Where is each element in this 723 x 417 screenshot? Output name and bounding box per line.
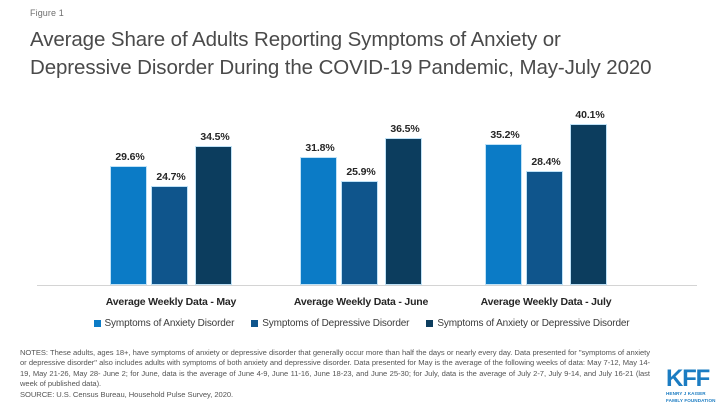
kff-logo-subtitle-line2: FAMILY FOUNDATION — [666, 398, 718, 404]
bar-value-july-depressive: 28.4% — [516, 156, 576, 168]
legend-item-anxiety[interactable]: Symptoms of Anxiety Disorder — [94, 318, 235, 329]
category-label-july: Average Weekly Data - July — [431, 296, 661, 308]
bar-june-anxiety-or-depressive[interactable]: 36.5% — [385, 138, 422, 285]
bar-value-june-depressive: 25.9% — [331, 166, 391, 178]
bar-may-depressive[interactable]: 24.7% — [151, 186, 188, 285]
legend-item-depressive[interactable]: Symptoms of Depressive Disorder — [251, 318, 409, 329]
page-title: Average Share of Adults Reporting Sympto… — [30, 26, 710, 82]
legend-item-anxiety-or-depressive[interactable]: Symptoms of Anxiety or Depressive Disord… — [426, 318, 629, 329]
bar-july-anxiety-or-depressive[interactable]: 40.1% — [570, 124, 607, 285]
legend-swatch-icon-anxiety — [94, 320, 101, 327]
figure-label: Figure 1 — [30, 8, 64, 18]
bar-value-june-anxiety-or-depressive: 36.5% — [375, 123, 435, 135]
chart-slide: Figure 1 Average Share of Adults Reporti… — [0, 0, 723, 417]
bar-value-may-anxiety-or-depressive: 34.5% — [185, 131, 245, 143]
bar-value-may-depressive: 24.7% — [141, 171, 201, 183]
bar-may-anxiety[interactable]: 29.6% — [110, 166, 147, 285]
bar-value-may-anxiety: 29.6% — [100, 151, 160, 163]
legend-label-depressive: Symptoms of Depressive Disorder — [262, 318, 409, 329]
footer-source: SOURCE: U.S. Census Bureau, Household Pu… — [20, 390, 650, 400]
legend-swatch-icon-depressive — [251, 320, 258, 327]
legend-label-anxiety-or-depressive: Symptoms of Anxiety or Depressive Disord… — [437, 318, 629, 329]
bar-value-july-anxiety-or-depressive: 40.1% — [560, 109, 620, 121]
bar-chart-plot: 29.6% 24.7% 34.5% Average Weekly Data - … — [20, 104, 710, 286]
kff-logo: KFF HENRY J KAISER FAMILY FOUNDATION — [666, 367, 718, 403]
bar-may-anxiety-or-depressive[interactable]: 34.5% — [195, 146, 232, 285]
footer-notes: NOTES: These adults, ages 18+, have symp… — [20, 348, 650, 390]
chart-legend: Symptoms of Anxiety Disorder Symptoms of… — [0, 318, 723, 329]
legend-swatch-icon-anxiety-or-depressive — [426, 320, 433, 327]
title-line-1: Average Share of Adults Reporting Sympto… — [30, 26, 710, 54]
bar-value-june-anxiety: 31.8% — [290, 142, 350, 154]
kff-logo-subtitle-line1: HENRY J KAISER — [666, 391, 718, 397]
title-line-2: Depressive Disorder During the COVID-19 … — [30, 54, 710, 82]
kff-logo-wordmark: KFF — [666, 367, 718, 390]
bar-july-depressive[interactable]: 28.4% — [526, 171, 563, 285]
chart-baseline — [37, 285, 697, 286]
bar-june-depressive[interactable]: 25.9% — [341, 181, 378, 285]
bar-value-july-anxiety: 35.2% — [475, 129, 535, 141]
legend-label-anxiety: Symptoms of Anxiety Disorder — [105, 318, 235, 329]
